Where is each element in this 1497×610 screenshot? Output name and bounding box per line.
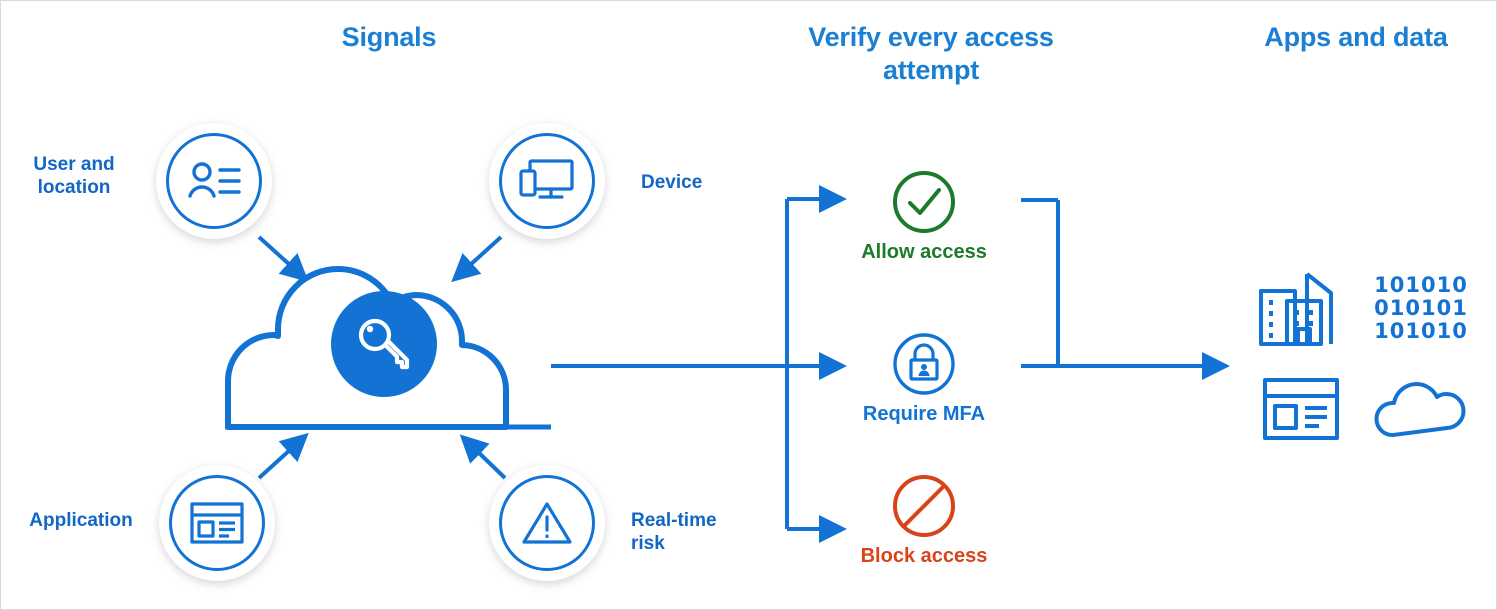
decision-label-block-access: Block access	[829, 545, 1019, 568]
signal-bubble-device[interactable]	[489, 123, 605, 239]
binary-line-2: 010101	[1374, 297, 1468, 320]
apps-item-on-premises[interactable]	[1258, 271, 1344, 347]
signal-bubble-real-time-risk[interactable]	[489, 465, 605, 581]
application-window-icon	[189, 501, 245, 545]
label-line-2: location	[38, 177, 111, 198]
apps-item-data: 101010 010101 101010	[1374, 274, 1468, 343]
signal-label-user-location: User and location	[9, 153, 139, 199]
decision-allow-access[interactable]: Allow access	[829, 169, 1019, 264]
warning-triangle-icon	[521, 499, 573, 547]
no-entry-icon	[891, 473, 957, 539]
decision-label-allow-access: Allow access	[829, 241, 1019, 264]
label-line-1: Real-time	[631, 510, 717, 531]
user-card-icon	[187, 159, 241, 203]
decision-label-require-mfa: Require MFA	[829, 403, 1019, 426]
decision-require-mfa[interactable]: Require MFA	[829, 331, 1019, 426]
cloud-outline-icon	[1373, 378, 1469, 440]
signal-bubble-application[interactable]	[159, 465, 275, 581]
office-buildings-icon	[1258, 271, 1344, 347]
apps-item-cloud-service[interactable]	[1373, 378, 1469, 440]
binary-line-1: 101010	[1374, 274, 1468, 297]
key-icon	[353, 313, 415, 375]
signal-label-real-time-risk: Real-time risk	[631, 509, 761, 555]
decision-block-access[interactable]: Block access	[829, 473, 1019, 568]
signal-arrow-application	[259, 449, 291, 478]
key-badge	[331, 291, 437, 397]
label-line-2: risk	[631, 533, 665, 554]
label-line-1: User and	[33, 154, 114, 175]
connector-cloud-to-bus	[551, 199, 823, 529]
binary-line-3: 101010	[1374, 320, 1468, 343]
connector-decisions-to-apps	[1021, 200, 1206, 366]
apps-and-data-group: 101010 010101 101010	[1246, 256, 1486, 456]
signal-bubble-user-location[interactable]	[156, 123, 272, 239]
apps-item-saas-app[interactable]	[1262, 377, 1340, 441]
signal-label-application: Application	[1, 509, 161, 532]
check-circle-icon	[891, 169, 957, 235]
application-window-icon	[1262, 377, 1340, 441]
signal-label-device: Device	[641, 171, 761, 194]
signal-arrow-real-time-risk	[477, 451, 505, 478]
lock-person-icon	[891, 331, 957, 397]
device-monitor-phone-icon	[518, 157, 576, 205]
diagram-canvas: Signals Verify every access attempt Apps…	[0, 0, 1497, 610]
